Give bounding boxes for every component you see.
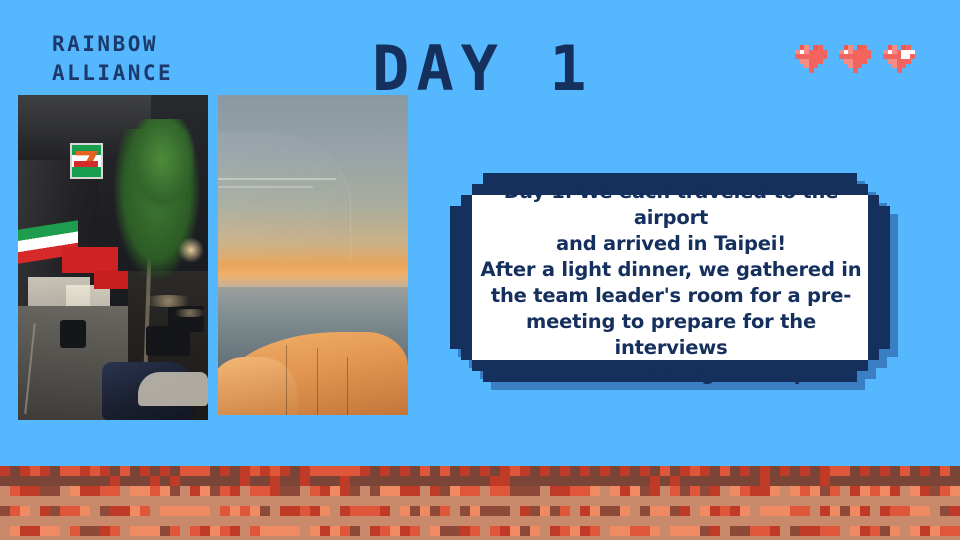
brick-pixel (710, 506, 720, 516)
brick-pixel (830, 516, 840, 526)
brick-pixel (740, 486, 750, 496)
brick-pixel (50, 486, 60, 496)
brick-pixel (670, 506, 680, 516)
brick-pixel (840, 506, 850, 516)
brick-pixel (40, 466, 50, 476)
brick-pixel (270, 496, 280, 506)
brick-pixel (400, 496, 410, 506)
brick-pixel (770, 536, 780, 540)
brick-pixel (480, 496, 490, 506)
story-textbox: Day 1: We each traveled to the airport a… (450, 173, 892, 387)
brick-pixel (830, 526, 840, 536)
brick-pixel (520, 466, 530, 476)
brick-pixel (460, 536, 470, 540)
brick-pixel (940, 506, 950, 516)
brick-pixel (730, 476, 740, 486)
brick-pixel (860, 516, 870, 526)
brick-pixel (670, 476, 680, 486)
brick-pixel (70, 506, 80, 516)
brick-pixel (450, 516, 460, 526)
brick-pixel (890, 486, 900, 496)
brick-pixel (830, 476, 840, 486)
brick-pixel (460, 526, 470, 536)
brick-pixel (20, 476, 30, 486)
brick-pixel (770, 526, 780, 536)
brick-pixel (330, 506, 340, 516)
plane-engine-seam-3 (347, 357, 348, 415)
brick-pixel (300, 526, 310, 536)
brick-pixel (480, 516, 490, 526)
brick-pixel (220, 466, 230, 476)
brick-pixel (340, 466, 350, 476)
brick-pixel (370, 516, 380, 526)
brick-pixel (0, 466, 10, 476)
brick-pixel (160, 466, 170, 476)
brick-pixel (490, 516, 500, 526)
brick-pixel (450, 506, 460, 516)
brick-pixel (560, 536, 570, 540)
brick-pixel (500, 476, 510, 486)
brick-pixel (420, 496, 430, 506)
brick-pixel (240, 506, 250, 516)
brick-pixel (170, 516, 180, 526)
brick-pixel (540, 536, 550, 540)
brick-pixel (810, 476, 820, 486)
brick-pixel (800, 536, 810, 540)
brick-pixel (860, 466, 870, 476)
brick-pixel (300, 466, 310, 476)
brick-pixel (230, 506, 240, 516)
brick-pixel (70, 536, 80, 540)
brick-pixel (190, 466, 200, 476)
brick-pixel (70, 466, 80, 476)
brick-pixel (380, 526, 390, 536)
brick-pixel (90, 466, 100, 476)
brick-pixel (630, 516, 640, 526)
brick-pixel (750, 476, 760, 486)
brick-pixel (320, 466, 330, 476)
brick-pixel (680, 476, 690, 486)
brick-pixel (10, 506, 20, 516)
brick-pixel (250, 496, 260, 506)
brick-pixel (200, 506, 210, 516)
street-parked-bike (60, 320, 86, 348)
brick-pixel (360, 506, 370, 516)
brick-pixel (260, 476, 270, 486)
brick-pixel (260, 506, 270, 516)
brick-pixel (710, 526, 720, 536)
brick-pixel (500, 526, 510, 536)
brick-pixel (560, 476, 570, 486)
brick-pixel (720, 466, 730, 476)
brick-pixel (330, 496, 340, 506)
brick-pixel (690, 526, 700, 536)
brick-pixel (410, 486, 420, 496)
brick-pixel (600, 476, 610, 486)
brick-pixel (140, 466, 150, 476)
brick-pixel (590, 536, 600, 540)
brick-pixel (930, 526, 940, 536)
brick-pixel (220, 486, 230, 496)
brick-pixel (90, 526, 100, 536)
brick-pixel (500, 516, 510, 526)
brick-pixel (190, 526, 200, 536)
brick-pixel (130, 526, 140, 536)
brick-pixel (10, 526, 20, 536)
brick-pixel (110, 526, 120, 536)
brick-pixel (500, 506, 510, 516)
brick-pixel (240, 496, 250, 506)
brick-pixel (910, 536, 920, 540)
photo-plane (218, 95, 408, 415)
brick-pixel (150, 486, 160, 496)
brick-pixel (180, 496, 190, 506)
brick-pixel (370, 526, 380, 536)
brick-pixel (550, 486, 560, 496)
brick-pixel (750, 496, 760, 506)
brick-pixel (390, 496, 400, 506)
brick-pixel (90, 536, 100, 540)
brick-pixel (250, 476, 260, 486)
brick-pixel (800, 496, 810, 506)
brick-pixel (280, 486, 290, 496)
brick-pixel (90, 476, 100, 486)
brick-pixel (20, 526, 30, 536)
brick-pixel (610, 486, 620, 496)
brick-pixel (790, 516, 800, 526)
street-light-trail-2 (168, 309, 208, 317)
brick-pixel (280, 476, 290, 486)
brick-pixel (700, 466, 710, 476)
brick-pixel (50, 496, 60, 506)
brick-pixel (900, 486, 910, 496)
brick-pixel (360, 466, 370, 476)
brick-pixel (20, 506, 30, 516)
brick-pixel (760, 496, 770, 506)
brick-pixel (130, 486, 140, 496)
brick-pixel (30, 466, 40, 476)
brick-pixel (300, 506, 310, 516)
brick-pixel (820, 526, 830, 536)
brick-pixel (10, 536, 20, 540)
brick-pixel (600, 506, 610, 516)
street-light-trail (138, 295, 198, 307)
brick-pixel (70, 526, 80, 536)
brick-pixel (170, 536, 180, 540)
brick-pixel (20, 536, 30, 540)
brick-pixel (610, 506, 620, 516)
brick-pixel (50, 516, 60, 526)
brick-pixel (120, 536, 130, 540)
brick-pixel (210, 506, 220, 516)
brick-pixel (850, 536, 860, 540)
brick-pixel (240, 526, 250, 536)
brick-pixel (790, 466, 800, 476)
brick-pixel (920, 476, 930, 486)
brick-pixel (600, 536, 610, 540)
brick-pixel (240, 486, 250, 496)
brick-pixel (900, 466, 910, 476)
brick-pixel (310, 516, 320, 526)
brick-pixel (160, 516, 170, 526)
brick-pixel (920, 496, 930, 506)
brick-pixel (560, 516, 570, 526)
brick-pixel (490, 526, 500, 536)
brick-pixel (680, 526, 690, 536)
brick-pixel (670, 516, 680, 526)
heart-full-2-icon (839, 45, 871, 75)
brick-pixel (810, 536, 820, 540)
brick-pixel (930, 506, 940, 516)
brick-pixel (590, 476, 600, 486)
brick-pixel (540, 486, 550, 496)
brick-pixel (540, 476, 550, 486)
brick-pixel (870, 496, 880, 506)
brick-pixel (730, 486, 740, 496)
brick-pixel (80, 536, 90, 540)
brick-pixel (950, 526, 960, 536)
brick-pixel (490, 476, 500, 486)
brick-pixel (260, 486, 270, 496)
brick-pixel (700, 506, 710, 516)
brick-pixel (470, 506, 480, 516)
brick-pixel (310, 476, 320, 486)
brick-pixel (320, 506, 330, 516)
brick-pixel (390, 466, 400, 476)
brick-pixel (160, 476, 170, 486)
brick-pixel (430, 466, 440, 476)
street-scooter-seat (138, 372, 208, 406)
brick-pixel (80, 496, 90, 506)
brick-pixel (670, 496, 680, 506)
brick-pixel (150, 496, 160, 506)
brick-pixel (60, 536, 70, 540)
brick-pixel (730, 516, 740, 526)
brick-pixel (320, 486, 330, 496)
brick-pixel (90, 506, 100, 516)
brick-pixel (0, 516, 10, 526)
brick-pixel (870, 506, 880, 516)
brick-pixel (940, 486, 950, 496)
brick-pixel (510, 466, 520, 476)
brick-pixel (120, 476, 130, 486)
brick-pixel (170, 486, 180, 496)
brick-pixel (430, 516, 440, 526)
brick-pixel (600, 526, 610, 536)
brick-pixel (500, 466, 510, 476)
brick-pixel (60, 476, 70, 486)
brick-pixel (410, 536, 420, 540)
brick-pixel (260, 496, 270, 506)
brick-pixel (440, 476, 450, 486)
brick-pixel (210, 516, 220, 526)
brick-pixel (350, 476, 360, 486)
brick-pixel (790, 476, 800, 486)
brick-pixel (0, 526, 10, 536)
brick-pixel (240, 476, 250, 486)
brick-pixel (150, 476, 160, 486)
brick-pixel (510, 516, 520, 526)
brick-pixel (100, 486, 110, 496)
brick-pixel (420, 506, 430, 516)
brick-pixel (120, 506, 130, 516)
brick-pixel (830, 466, 840, 476)
brick-pixel (650, 506, 660, 516)
brick-pixel (290, 486, 300, 496)
brick-pixel (270, 506, 280, 516)
brick-pixel (300, 476, 310, 486)
brick-pixel (320, 526, 330, 536)
brick-pixel (940, 466, 950, 476)
brick-pixel (710, 476, 720, 486)
brick-pixel (620, 506, 630, 516)
brick-pixel (870, 476, 880, 486)
brick-pixel (760, 516, 770, 526)
brick-pixel (890, 466, 900, 476)
brick-pixel (550, 536, 560, 540)
brick-pixel (400, 506, 410, 516)
brick-pixel (340, 516, 350, 526)
brick-pixel (720, 516, 730, 526)
brick-pixel (370, 536, 380, 540)
photo-street (18, 95, 208, 420)
brick-pixel (220, 496, 230, 506)
brick-pixel (920, 536, 930, 540)
brick-pixel (10, 496, 20, 506)
brick-pixel (540, 516, 550, 526)
brick-pixel (230, 516, 240, 526)
brick-pixel (600, 516, 610, 526)
brick-pixel (140, 486, 150, 496)
brick-pixel (920, 516, 930, 526)
brick-pixel (30, 476, 40, 486)
brick-pixel (740, 466, 750, 476)
street-red-sign (62, 247, 118, 273)
brick-pixel (860, 496, 870, 506)
brick-pixel (940, 516, 950, 526)
brick-pixel (820, 466, 830, 476)
brick-pixel (0, 496, 10, 506)
brick-pixel (520, 486, 530, 496)
brick-pixel (530, 486, 540, 496)
brick-pixel (170, 496, 180, 506)
brick-pixel (730, 536, 740, 540)
brick-pixel (630, 476, 640, 486)
brick-pixel (570, 466, 580, 476)
brick-pixel (490, 466, 500, 476)
brick-pixel (620, 496, 630, 506)
brick-pixel (250, 466, 260, 476)
brick-pixel (210, 466, 220, 476)
brick-pixel (560, 526, 570, 536)
brick-pixel (550, 476, 560, 486)
brick-pixel (10, 466, 20, 476)
brick-pixel (400, 476, 410, 486)
brick-pixel (170, 466, 180, 476)
brick-pixel (610, 476, 620, 486)
brick-pixel (30, 496, 40, 506)
brick-pixel (700, 486, 710, 496)
brick-pixel (230, 466, 240, 476)
brick-pixel (80, 466, 90, 476)
brick-pixel (640, 526, 650, 536)
brick-pixel (0, 476, 10, 486)
brick-pixel (40, 526, 50, 536)
brick-pixel (770, 516, 780, 526)
brick-pixel (270, 526, 280, 536)
brick-pixel (180, 526, 190, 536)
brick-pixel (440, 536, 450, 540)
brick-pixel (730, 496, 740, 506)
brick-pixel (610, 496, 620, 506)
brick-pixel (520, 496, 530, 506)
brick-pixel (400, 466, 410, 476)
brick-pixel (310, 486, 320, 496)
brick-pixel (60, 516, 70, 526)
brick-pixel (570, 526, 580, 536)
brick-pixel (580, 476, 590, 486)
brick-pixel (160, 526, 170, 536)
brick-pixel (170, 526, 180, 536)
brick-pixel (690, 506, 700, 516)
brick-pixel (710, 486, 720, 496)
brick-pixel (530, 466, 540, 476)
brick-pixel (890, 496, 900, 506)
brick-pixel (770, 466, 780, 476)
brick-pixel (490, 536, 500, 540)
brick-pixel (280, 536, 290, 540)
brick-pixel (200, 516, 210, 526)
brick-pixel (190, 516, 200, 526)
brick-pixel (410, 496, 420, 506)
brick-pixel (490, 506, 500, 516)
brick-pixel (860, 536, 870, 540)
brick-pixel (660, 466, 670, 476)
brick-pixel (180, 466, 190, 476)
brick-pixel (940, 496, 950, 506)
brick-pixel (0, 506, 10, 516)
brick-pixel (930, 536, 940, 540)
brick-pixel (140, 496, 150, 506)
brick-pixel (670, 466, 680, 476)
brick-pixel (780, 526, 790, 536)
brick-pixel (660, 536, 670, 540)
brick-pixel (360, 516, 370, 526)
brick-pixel (520, 516, 530, 526)
brick-pixel (250, 526, 260, 536)
brick-pixel (510, 496, 520, 506)
brick-pixel (500, 486, 510, 496)
brick-pixel (850, 466, 860, 476)
brick-pixel (220, 476, 230, 486)
brick-pixel (170, 506, 180, 516)
brick-pixel (570, 506, 580, 516)
brick-pixel (260, 516, 270, 526)
brick-pixel (560, 466, 570, 476)
brick-pixel (850, 516, 860, 526)
brick-pixel (920, 526, 930, 536)
brick-pixel (530, 506, 540, 516)
brick-pixel (350, 466, 360, 476)
brick-pixel (380, 506, 390, 516)
brick-pixel (900, 526, 910, 536)
brick-pixel (700, 536, 710, 540)
brick-pixel (780, 516, 790, 526)
brick-pixel (150, 506, 160, 516)
brick-pixel (90, 496, 100, 506)
brick-pixel (710, 466, 720, 476)
brick-pixel (430, 496, 440, 506)
